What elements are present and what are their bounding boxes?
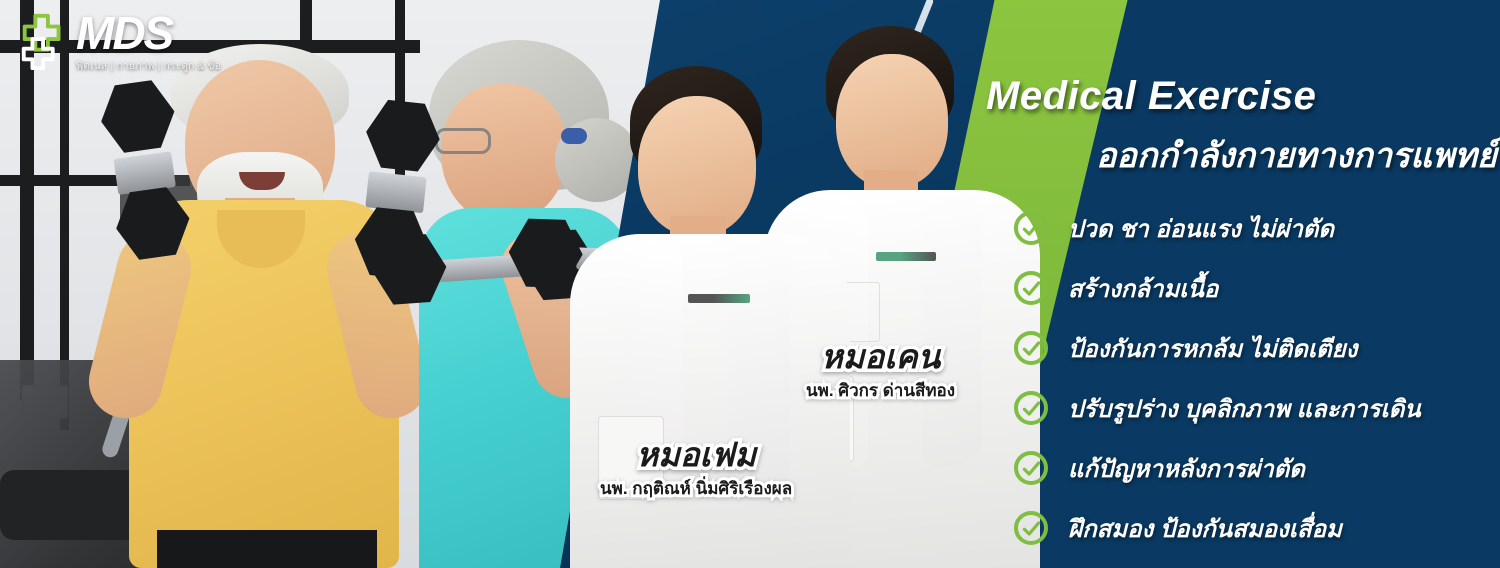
check-circle-icon xyxy=(1014,271,1048,305)
doctor-nametag-fame: หมอเฟม นพ. กฤติณห์ นิ่มศิริเรืองผล xyxy=(600,438,792,502)
benefit-item: ฝึกสมอง ป้องกันสมองเสื่อม xyxy=(1014,498,1494,558)
check-circle-icon xyxy=(1014,451,1048,485)
benefit-label: ปวด ชา อ่อนแรง ไม่ผ่าตัด xyxy=(1068,209,1334,248)
doctor-fullname: นพ. ศิวกร ด่านสีทอง xyxy=(806,377,955,404)
senior-man-pants xyxy=(157,530,377,568)
senior-woman-head xyxy=(441,84,567,224)
benefit-label: ป้องกันการหกล้ม ไม่ติดเตียง xyxy=(1068,329,1357,368)
doctor-nametag-ken: หมอเคน นพ. ศิวกร ด่านสีทอง xyxy=(806,340,955,404)
check-circle-icon xyxy=(1014,391,1048,425)
check-circle-icon xyxy=(1014,211,1048,245)
benefit-item: ปวด ชา อ่อนแรง ไม่ผ่าตัด xyxy=(1014,198,1494,258)
check-circle-icon xyxy=(1014,511,1048,545)
logo-tagline: ฟิตเนส | กายภาพ | กระดูก & ข้อ xyxy=(76,59,221,74)
check-circle-icon xyxy=(1014,331,1048,365)
benefit-item: แก้ปัญหาหลังการผ่าตัด xyxy=(1014,438,1494,498)
logo-text-block: MDS ฟิตเนส | กายภาพ | กระดูก & ข้อ xyxy=(76,10,221,74)
doctor-head xyxy=(638,96,756,236)
headline-english: Medical Exercise xyxy=(986,74,1316,119)
doctor-fullname: นพ. กฤติณห์ นิ่มศิริเรืองผล xyxy=(600,475,792,502)
green-medical-cross-icon xyxy=(16,10,74,72)
headline-thai: ออกกำลังกายทางการแพทย์ xyxy=(1096,128,1497,182)
benefit-item: ปรับรูปร่าง บุคลิกภาพ และการเดิน xyxy=(1014,378,1494,438)
benefit-label: แก้ปัญหาหลังการผ่าตัด xyxy=(1068,449,1305,488)
medical-exercise-banner: หมอเคน นพ. ศิวกร ด่านสีทอง หมอเฟม นพ. กฤ… xyxy=(0,0,1500,568)
banner-content: Medical Exercise ออกกำลังกายทางการแพทย์ … xyxy=(960,0,1500,568)
eyeglasses-icon xyxy=(435,128,491,154)
benefit-label: ปรับรูปร่าง บุคลิกภาพ และการเดิน xyxy=(1068,389,1421,428)
brand-logo[interactable]: MDS ฟิตเนส | กายภาพ | กระดูก & ข้อ xyxy=(16,10,221,74)
benefit-item: สร้างกล้ามเนื้อ xyxy=(1014,258,1494,318)
benefit-item: ป้องกันการหกล้ม ไม่ติดเตียง xyxy=(1014,318,1494,378)
coat-embroidered-name xyxy=(876,252,936,261)
doctor-nickname: หมอเคน xyxy=(806,340,955,375)
benefits-list: ปวด ชา อ่อนแรง ไม่ผ่าตัด สร้างกล้ามเนื้อ… xyxy=(1014,198,1494,558)
logo-wordmark: MDS xyxy=(76,10,221,56)
coat-embroidered-name xyxy=(688,294,750,303)
benefit-label: ฝึกสมอง ป้องกันสมองเสื่อม xyxy=(1068,509,1342,548)
benefit-label: สร้างกล้ามเนื้อ xyxy=(1068,269,1218,308)
doctor-nickname: หมอเฟม xyxy=(600,438,792,473)
